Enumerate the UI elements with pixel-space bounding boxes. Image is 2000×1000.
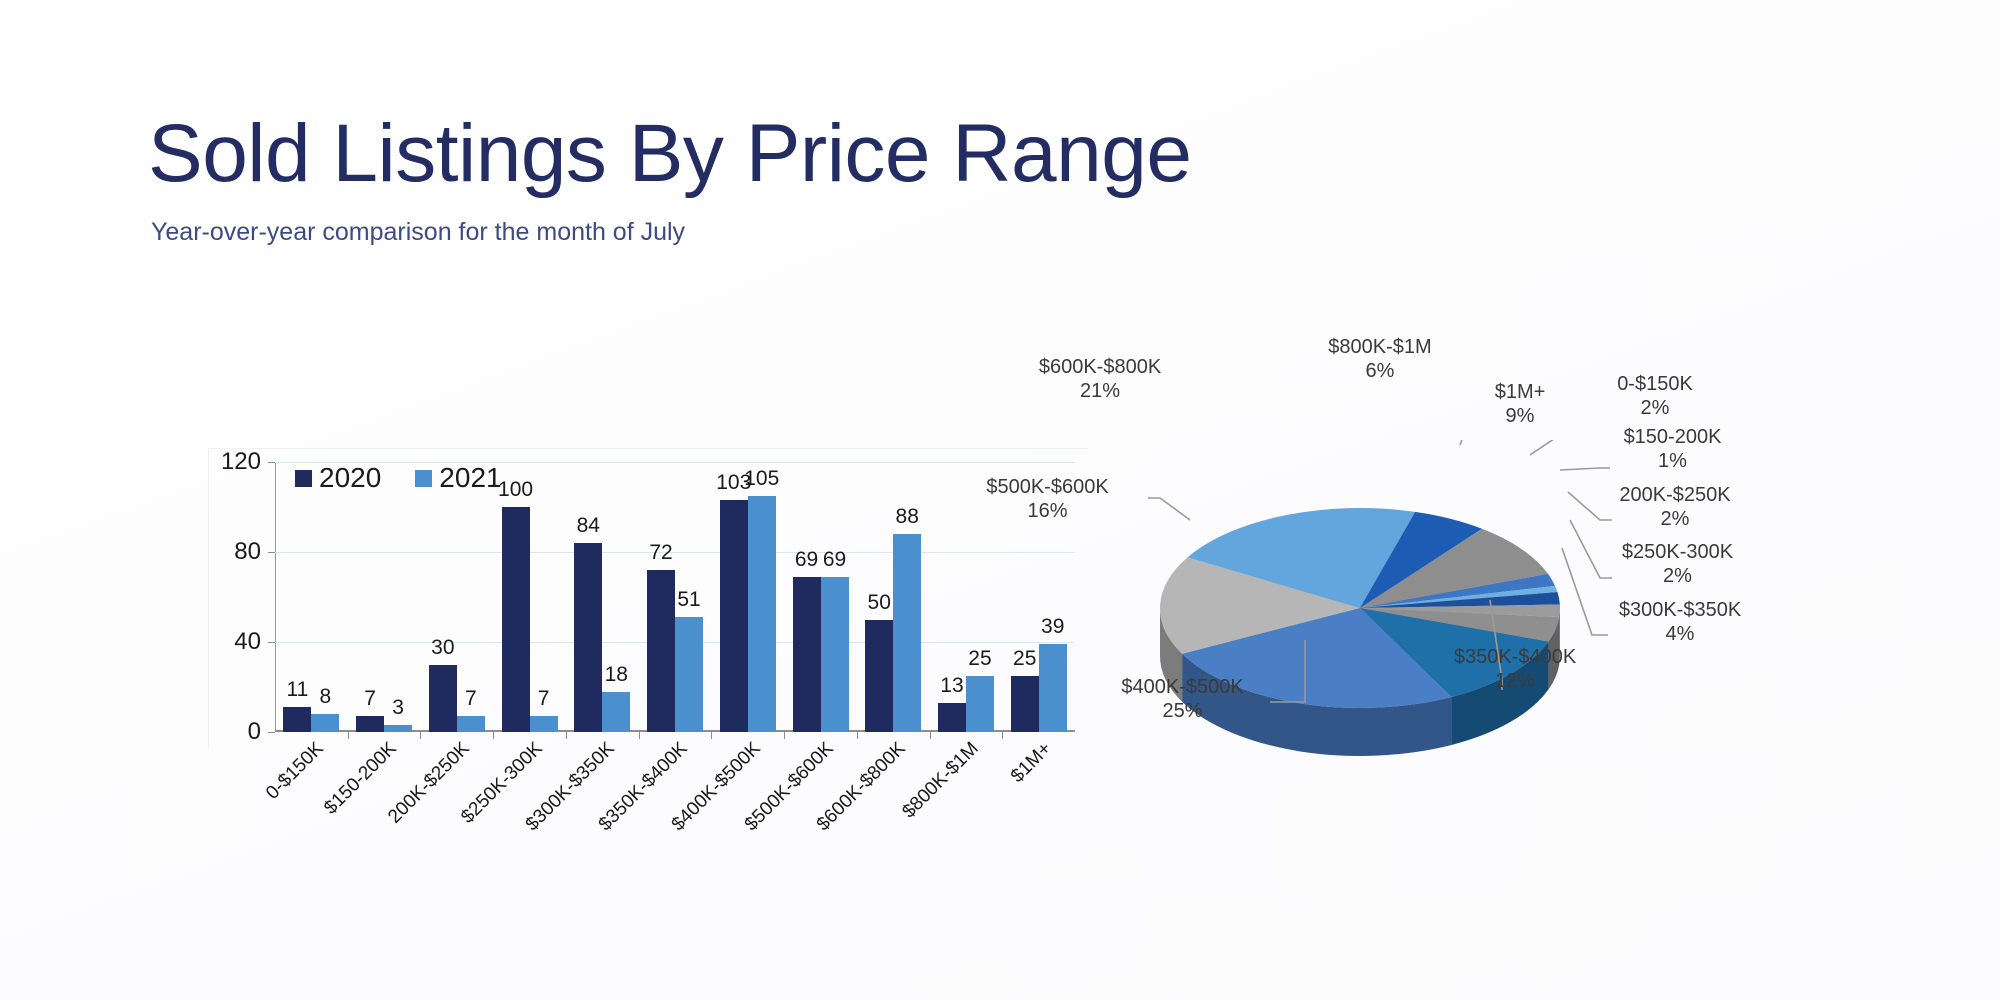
bar-value-label: 69: [795, 548, 818, 572]
bar-value-label: 3: [392, 696, 404, 720]
pie-label-1m-plus: $1M+ 9%: [1465, 380, 1575, 429]
pie-label-350k-400k: $350K-$400K 12%: [1425, 645, 1605, 694]
bar-2021[interactable]: 69: [821, 577, 849, 732]
y-tick-label-0: 0: [248, 718, 261, 746]
x-axis-label-text: 0-$150K: [262, 738, 328, 804]
pie-label-250k-300k: $250K-300K 2%: [1590, 540, 1765, 589]
pie-label-200k-250k: 200K-$250K 2%: [1590, 483, 1760, 532]
page-subtitle: Year-over-year comparison for the month …: [151, 218, 1648, 247]
bar-value-label: 18: [605, 663, 628, 687]
bar-value-label: 8: [320, 685, 332, 709]
pie-label-300k-350k: $300K-$350K 4%: [1590, 598, 1770, 647]
bar-value-label: 25: [1013, 647, 1036, 671]
legend-item-2020: 2020: [295, 464, 381, 492]
pie-label-0-150k: 0-$150K 2%: [1580, 372, 1730, 421]
y-tick-label-80: 80: [234, 538, 261, 566]
pie-leader-line: [1148, 498, 1190, 520]
bar-value-label: 100: [498, 478, 533, 502]
x-label-cell: $1M+: [1002, 740, 1075, 870]
bar-value-label: 7: [538, 687, 550, 711]
bar-2021[interactable]: 88: [893, 534, 921, 732]
bar-wrapper: 11: [283, 462, 311, 732]
pie-label-600k-800k: $600K-$800K 21%: [1005, 355, 1195, 404]
bar-value-label: 105: [744, 467, 779, 491]
x-axis-label-text: $1M+: [1007, 738, 1057, 788]
bar-value-label: 84: [577, 514, 600, 538]
bar-chart-legend: 2020 2021: [295, 464, 502, 492]
pie-label-400k-500k: $400K-$500K 25%: [1090, 675, 1275, 724]
bar-value-label: 51: [677, 588, 700, 612]
pie-label-150-200k: $150-200K 1%: [1590, 425, 1755, 474]
bar-value-label: 7: [465, 687, 477, 711]
legend-swatch-2020-icon: [295, 470, 312, 487]
pie-chart: $600K-$800K 21% $800K-$1M 6% $1M+ 9% 0-$…: [1130, 440, 1980, 860]
x-axis-labels: 0-$150K$150-200K200K-$250K$250K-300K$300…: [275, 740, 1075, 870]
legend-swatch-2021-icon: [415, 470, 432, 487]
bar-group: 118: [275, 462, 348, 732]
bar-value-label: 50: [868, 591, 891, 615]
bar-value-label: 88: [896, 505, 919, 529]
bar-2020[interactable]: 11: [283, 707, 311, 732]
x-label-cell: $800K-$1M: [930, 740, 1003, 870]
legend-item-2021: 2021: [415, 464, 501, 492]
bar-value-label: 72: [649, 541, 672, 565]
bar-value-label: 11: [286, 678, 308, 702]
bar-wrapper: 7: [356, 462, 384, 732]
bar-value-label: 69: [823, 548, 846, 572]
legend-label-2021: 2021: [439, 464, 501, 492]
pie-label-800k-1m: $800K-$1M 6%: [1290, 335, 1470, 384]
pie-leader-line: [1460, 440, 1498, 445]
y-tick-label-40: 40: [234, 628, 261, 656]
bar-2021[interactable]: 105: [748, 496, 776, 732]
slide-header: Sold Listings By Price Range Year-over-y…: [148, 112, 1648, 247]
y-tick-label-120: 120: [221, 448, 261, 476]
bar-wrapper: 3: [384, 462, 412, 732]
bar-value-label: 7: [364, 687, 376, 711]
page-title: Sold Listings By Price Range: [148, 112, 1648, 196]
bar-wrapper: 7: [457, 462, 485, 732]
pie-label-500k-600k: $500K-$600K 16%: [955, 475, 1140, 524]
bar-value-label: 30: [431, 636, 454, 660]
legend-label-2020: 2020: [319, 464, 381, 492]
bar-value-label: 39: [1041, 615, 1064, 639]
bar-value-label: 25: [968, 647, 991, 671]
bar-group: 73: [348, 462, 421, 732]
bar-wrapper: 8: [311, 462, 339, 732]
